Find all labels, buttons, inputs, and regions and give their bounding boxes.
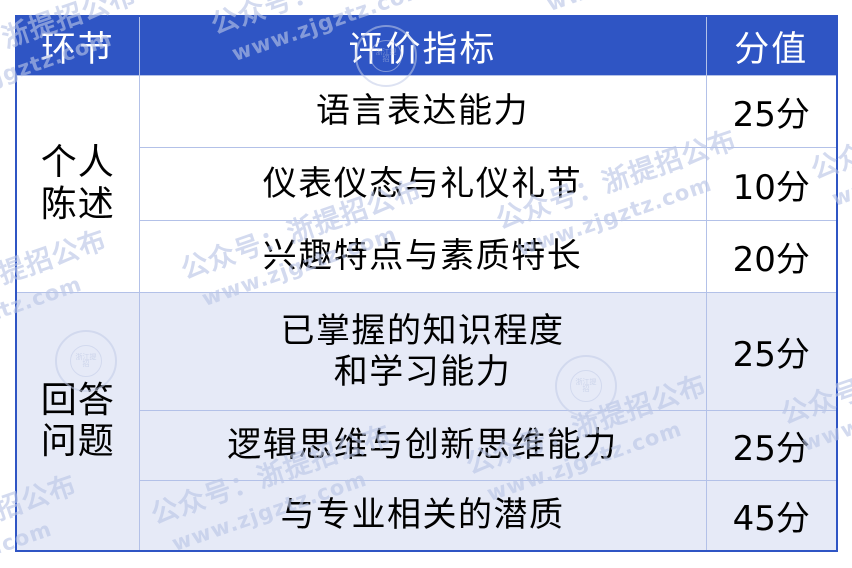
column-header-score: 分值 bbox=[706, 16, 837, 76]
table-row: 与专业相关的潜质 45分 bbox=[16, 481, 837, 551]
metric-cell: 兴趣特点与素质特长 bbox=[139, 221, 706, 293]
metric-line2: 和学习能力 bbox=[140, 352, 706, 392]
stage-cell-question-answer: 回答 问题 bbox=[16, 293, 139, 551]
stage-cell-personal-statement: 个人 陈述 bbox=[16, 76, 139, 293]
table-body: 个人 陈述 语言表达能力 25分 仪表仪态与礼仪礼节 10分 兴趣特点与素质特长… bbox=[16, 76, 837, 551]
table-header: 环节 评价指标 分值 bbox=[16, 16, 837, 76]
stage-label-line2: 问题 bbox=[17, 421, 139, 463]
score-cell: 10分 bbox=[706, 148, 837, 221]
column-header-stage: 环节 bbox=[16, 16, 139, 76]
metric-line1: 已掌握的知识程度 bbox=[140, 311, 706, 351]
score-cell: 25分 bbox=[706, 76, 837, 148]
evaluation-score-table: 环节 评价指标 分值 个人 陈述 语言表达能力 25分 仪表仪态与礼仪礼节 10… bbox=[15, 15, 838, 552]
metric-cell: 仪表仪态与礼仪礼节 bbox=[139, 148, 706, 221]
table-header-row: 环节 评价指标 分值 bbox=[16, 16, 837, 76]
score-cell: 25分 bbox=[706, 411, 837, 481]
column-header-metric: 评价指标 bbox=[139, 16, 706, 76]
score-cell: 25分 bbox=[706, 293, 837, 411]
metric-cell: 逻辑思维与创新思维能力 bbox=[139, 411, 706, 481]
table-row: 个人 陈述 语言表达能力 25分 bbox=[16, 76, 837, 148]
stage-label-line2: 陈述 bbox=[17, 184, 139, 226]
metric-cell: 已掌握的知识程度 和学习能力 bbox=[139, 293, 706, 411]
stage-label-line1: 回答 bbox=[17, 380, 139, 422]
watermark-website: www.zjgztz.com bbox=[544, 0, 781, 16]
score-cell: 20分 bbox=[706, 221, 837, 293]
table-row: 回答 问题 已掌握的知识程度 和学习能力 25分 bbox=[16, 293, 837, 411]
metric-cell: 与专业相关的潜质 bbox=[139, 481, 706, 551]
metric-cell: 语言表达能力 bbox=[139, 76, 706, 148]
score-cell: 45分 bbox=[706, 481, 837, 551]
stage-label-line1: 个人 bbox=[17, 142, 139, 184]
table-row: 兴趣特点与素质特长 20分 bbox=[16, 221, 837, 293]
table-row: 逻辑思维与创新思维能力 25分 bbox=[16, 411, 837, 481]
table-row: 仪表仪态与礼仪礼节 10分 bbox=[16, 148, 837, 221]
